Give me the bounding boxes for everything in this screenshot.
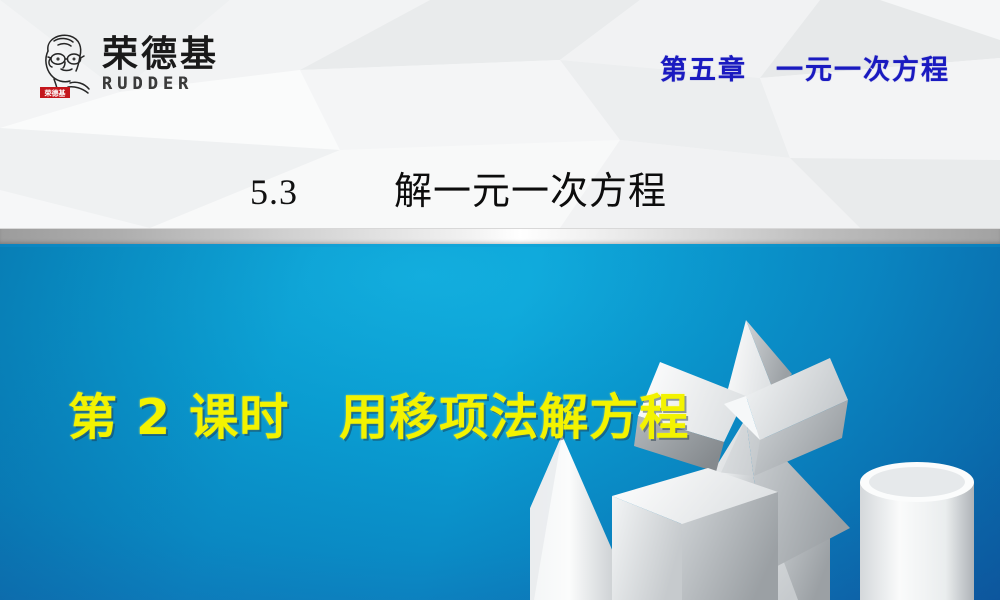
presentation-slide: 荣德基 荣德基 RUDDER 第五章 一元一次方程 5.3 解一元一次方程 [0,0,1000,600]
logo-badge-text: 荣德基 [44,89,67,98]
section-name: 解一元一次方程 [394,160,667,215]
metal-divider-bar [0,228,1000,244]
cube-solid [612,468,778,600]
cylinder-solid [860,462,974,600]
lesson-title: 第 2 课时 用移项法解方程 [0,378,1000,449]
section-number: 5.3 [250,171,298,213]
chapter-title: 第五章 一元一次方程 [640,48,970,87]
brand-logo-text: 荣德基 RUDDER [102,37,219,93]
brand-name-cn: 荣德基 [102,37,219,73]
brand-name-en: RUDDER [102,76,219,93]
plaster-solids-group [530,300,1000,600]
face-portrait-icon: 荣德基 [34,29,96,101]
slide-header: 荣德基 荣德基 RUDDER 第五章 一元一次方程 5.3 解一元一次方程 [0,0,1000,228]
brand-logo: 荣德基 荣德基 RUDDER [34,26,274,104]
section-heading: 5.3 解一元一次方程 [0,160,1000,215]
